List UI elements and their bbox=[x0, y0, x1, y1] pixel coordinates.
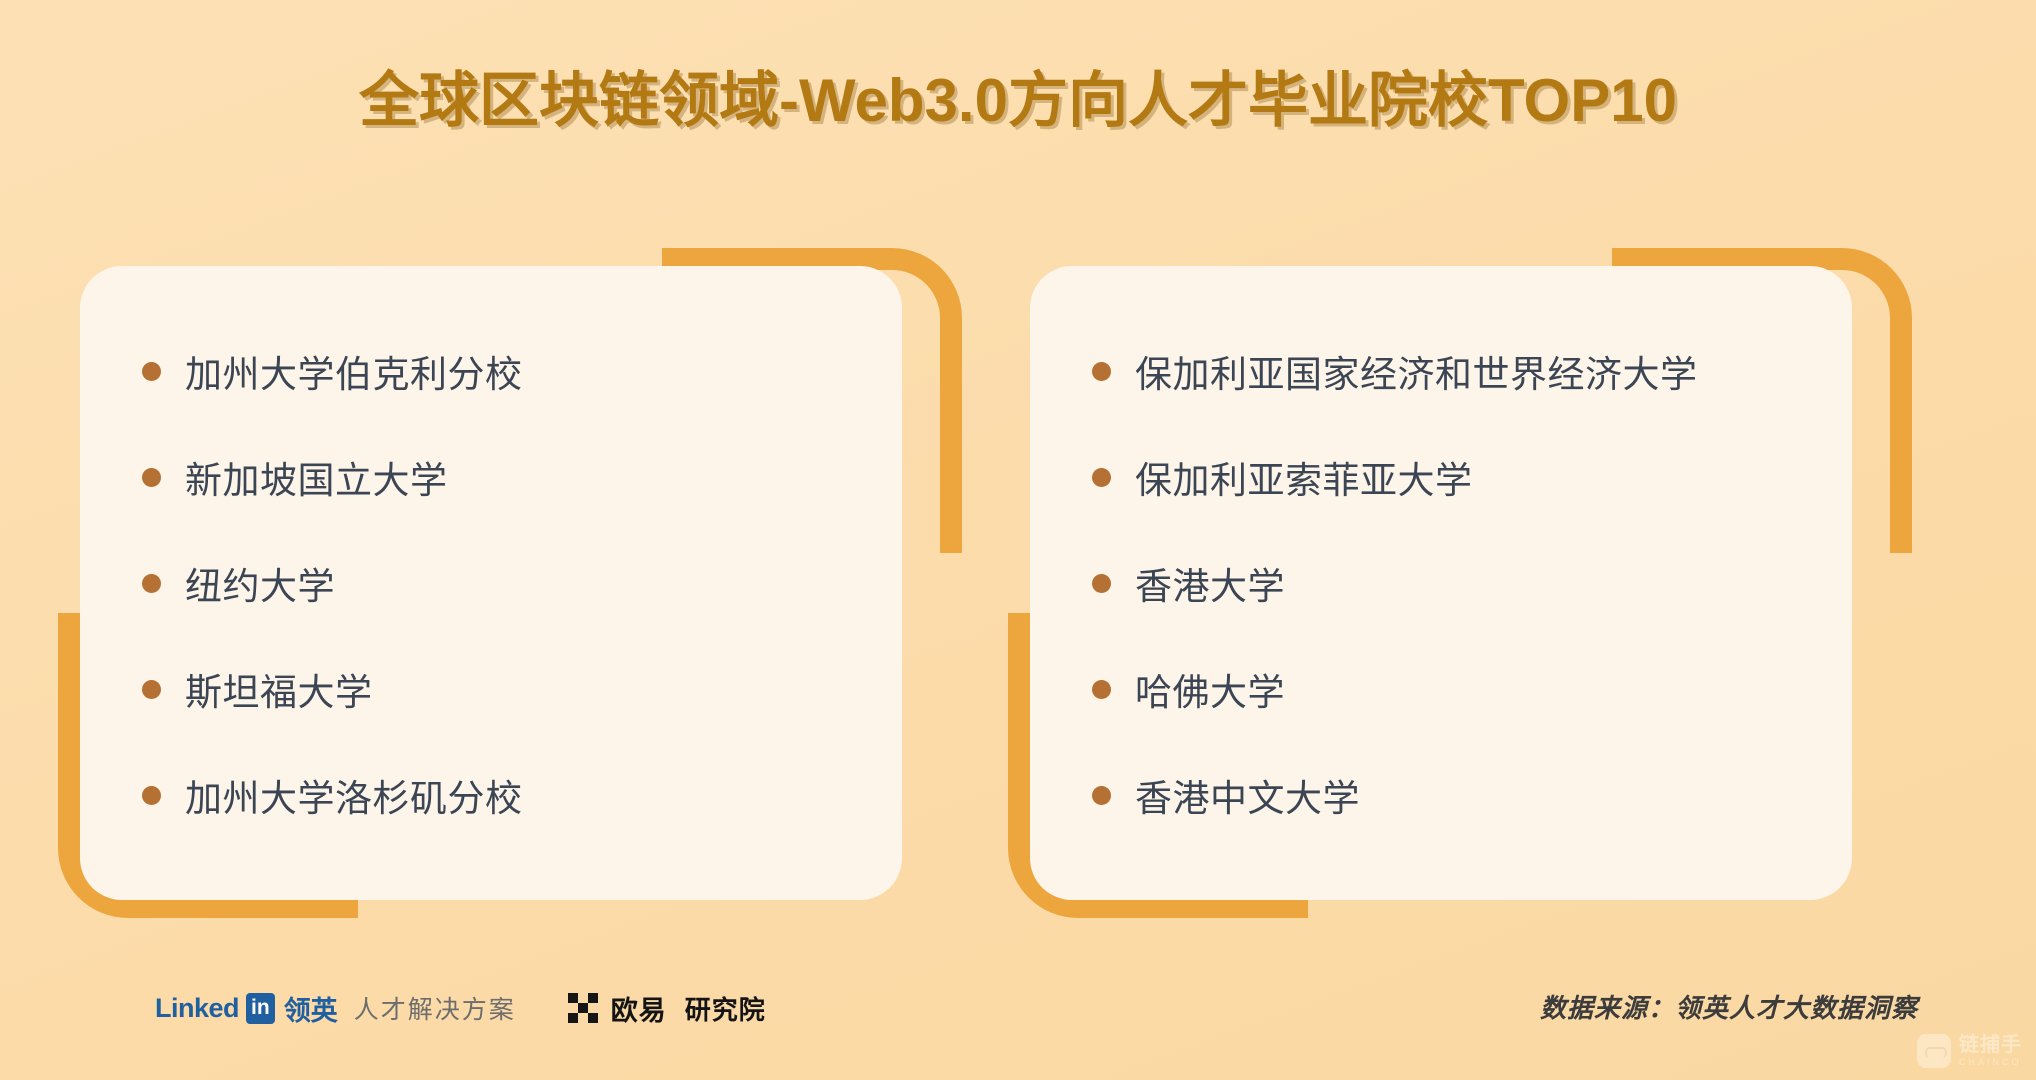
footer: Linked in 领英 人才解决方案 欧易 研究院 数据来源：领英人才大数据洞… bbox=[0, 984, 2036, 1032]
bullet-icon bbox=[1092, 468, 1111, 487]
list-item-label: 保加利亚索菲亚大学 bbox=[1135, 450, 1473, 504]
page-title: 全球区块链领域-Web3.0方向人才毕业院校TOP10 bbox=[0, 52, 2036, 139]
list-item[interactable]: 保加利亚索菲亚大学 bbox=[1092, 450, 1822, 504]
left-column-list: 加州大学伯克利分校 新加坡国立大学 纽约大学 斯坦福大学 bbox=[142, 266, 872, 900]
watermark-main-label: 链捕手 bbox=[1959, 1035, 2022, 1055]
list-item[interactable]: 斯坦福大学 bbox=[142, 662, 872, 716]
bullet-icon bbox=[142, 786, 161, 805]
watermark-text: 链捕手 CHAINCO bbox=[1959, 1035, 2022, 1067]
right-column-card-wrapper: 保加利亚国家经济和世界经济大学 保加利亚索菲亚大学 香港大学 哈佛大学 bbox=[1030, 238, 1890, 928]
linkedin-logo: Linked in 领英 人才解决方案 bbox=[155, 989, 516, 1028]
linkedin-in-icon: in bbox=[246, 993, 275, 1024]
bullet-icon bbox=[142, 362, 161, 381]
list-item[interactable]: 加州大学洛杉矶分校 bbox=[142, 768, 872, 822]
watermark-sub-label: CHAINCO bbox=[1959, 1058, 2022, 1067]
okx-mark-icon bbox=[568, 993, 598, 1023]
data-source-note: 数据来源：领英人才大数据洞察 bbox=[1540, 988, 1918, 1025]
watermark-logo-icon bbox=[1917, 1034, 1951, 1068]
list-item[interactable]: 保加利亚国家经济和世界经济大学 bbox=[1092, 344, 1822, 398]
left-column-card-wrapper: 加州大学伯克利分校 新加坡国立大学 纽约大学 斯坦福大学 bbox=[80, 238, 940, 928]
okx-logo: 欧易 研究院 bbox=[568, 989, 766, 1028]
footer-brands: Linked in 领英 人才解决方案 欧易 研究院 bbox=[155, 984, 766, 1032]
cards-container: 加州大学伯克利分校 新加坡国立大学 纽约大学 斯坦福大学 bbox=[0, 238, 2036, 938]
list-item[interactable]: 新加坡国立大学 bbox=[142, 450, 872, 504]
bullet-icon bbox=[142, 468, 161, 487]
bullet-icon bbox=[1092, 362, 1111, 381]
infographic-slide: 全球区块链领域-Web3.0方向人才毕业院校TOP10 加州大学伯克利分校 新加… bbox=[0, 0, 2036, 1080]
list-item-label: 新加坡国立大学 bbox=[185, 450, 448, 504]
list-item[interactable]: 加州大学伯克利分校 bbox=[142, 344, 872, 398]
watermark: 链捕手 CHAINCO bbox=[1917, 1034, 2022, 1068]
list-item-label: 加州大学洛杉矶分校 bbox=[185, 768, 523, 822]
bullet-icon bbox=[1092, 574, 1111, 593]
list-item[interactable]: 哈佛大学 bbox=[1092, 662, 1822, 716]
list-item[interactable]: 香港大学 bbox=[1092, 556, 1822, 610]
list-item-label: 哈佛大学 bbox=[1135, 662, 1285, 716]
right-column-list: 保加利亚国家经济和世界经济大学 保加利亚索菲亚大学 香港大学 哈佛大学 bbox=[1092, 266, 1822, 900]
okx-research-label: 研究院 bbox=[685, 990, 766, 1027]
right-column-card: 保加利亚国家经济和世界经济大学 保加利亚索菲亚大学 香港大学 哈佛大学 bbox=[1030, 266, 1852, 900]
bullet-icon bbox=[1092, 680, 1111, 699]
list-item-label: 香港大学 bbox=[1135, 556, 1285, 610]
bullet-icon bbox=[142, 680, 161, 699]
left-column-card: 加州大学伯克利分校 新加坡国立大学 纽约大学 斯坦福大学 bbox=[80, 266, 902, 900]
bullet-icon bbox=[142, 574, 161, 593]
list-item-label: 斯坦福大学 bbox=[185, 662, 373, 716]
bullet-icon bbox=[1092, 786, 1111, 805]
list-item-label: 加州大学伯克利分校 bbox=[185, 344, 523, 398]
list-item-label: 保加利亚国家经济和世界经济大学 bbox=[1135, 344, 1698, 398]
list-item-label: 纽约大学 bbox=[185, 556, 335, 610]
list-item[interactable]: 香港中文大学 bbox=[1092, 768, 1822, 822]
okx-brand-name: 欧易 bbox=[611, 989, 667, 1028]
list-item[interactable]: 纽约大学 bbox=[142, 556, 872, 610]
linkedin-chinese-name: 领英 bbox=[284, 989, 338, 1028]
list-item-label: 香港中文大学 bbox=[1135, 768, 1360, 822]
linkedin-tagline: 人才解决方案 bbox=[354, 990, 516, 1026]
linkedin-wordmark: Linked bbox=[155, 993, 239, 1024]
